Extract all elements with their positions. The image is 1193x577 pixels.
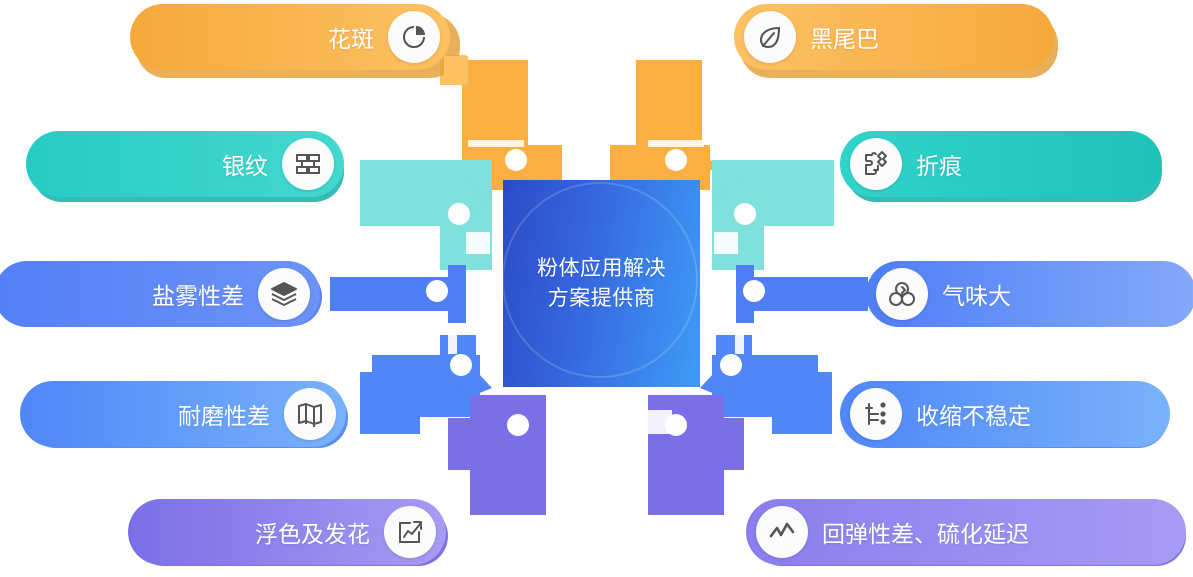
node-huaban[interactable]: 花斑	[130, 4, 450, 70]
node-zhehen[interactable]: 折痕	[840, 131, 1162, 197]
node-huaban-label: 花斑	[328, 20, 374, 54]
node-huitanxingcha[interactable]: 回弹性差、硫化延迟	[746, 499, 1186, 565]
node-heiweiba-label: 黑尾巴	[810, 20, 879, 54]
pill-tab-decor-1	[444, 56, 468, 84]
infographic-canvas: 粉体应用解决 方案提供商 花斑 黑尾巴 银纹	[0, 0, 1193, 577]
center-hub: 粉体应用解决 方案提供商	[503, 180, 700, 387]
connector-yanwuxingcha	[330, 265, 466, 323]
node-shousuobuwending-label: 收缩不稳定	[916, 397, 1031, 431]
connector-zhehen	[712, 160, 834, 270]
node-zhehen-label: 折痕	[916, 147, 962, 181]
node-fusejifahua-label: 浮色及发花	[255, 515, 370, 549]
zigzag-line-icon	[756, 506, 808, 558]
connector-heiweiba	[610, 60, 720, 190]
hub-title: 粉体应用解决 方案提供商	[537, 254, 666, 314]
sitemap-icon	[850, 388, 902, 440]
layers-icon	[258, 268, 310, 320]
pie-chart-icon	[388, 11, 440, 63]
node-yinwen-label: 银纹	[222, 147, 268, 181]
leaf-icon	[744, 11, 796, 63]
node-yanwuxingcha-label: 盐雾性差	[152, 277, 244, 311]
node-qiweida[interactable]: 气味大	[866, 261, 1193, 327]
recycle-icon	[876, 268, 928, 320]
map-icon	[284, 388, 336, 440]
connector-qiweida	[736, 265, 868, 323]
node-huitanxingcha-label: 回弹性差、硫化延迟	[822, 515, 1029, 549]
node-heiweiba[interactable]: 黑尾巴	[734, 4, 1054, 70]
connector-yinwen	[360, 160, 492, 270]
node-yinwen[interactable]: 银纹	[26, 131, 344, 197]
node-shousuobuwending[interactable]: 收缩不稳定	[840, 381, 1170, 447]
trending-chart-icon	[384, 506, 436, 558]
node-yanwuxingcha[interactable]: 盐雾性差	[0, 261, 320, 327]
node-naimoxingcha[interactable]: 耐磨性差	[20, 381, 346, 447]
node-qiweida-label: 气味大	[942, 277, 1011, 311]
node-fusejifahua[interactable]: 浮色及发花	[128, 499, 446, 565]
brick-wall-icon	[282, 138, 334, 190]
puzzle-piece-icon	[850, 138, 902, 190]
node-naimoxingcha-label: 耐磨性差	[178, 397, 270, 431]
